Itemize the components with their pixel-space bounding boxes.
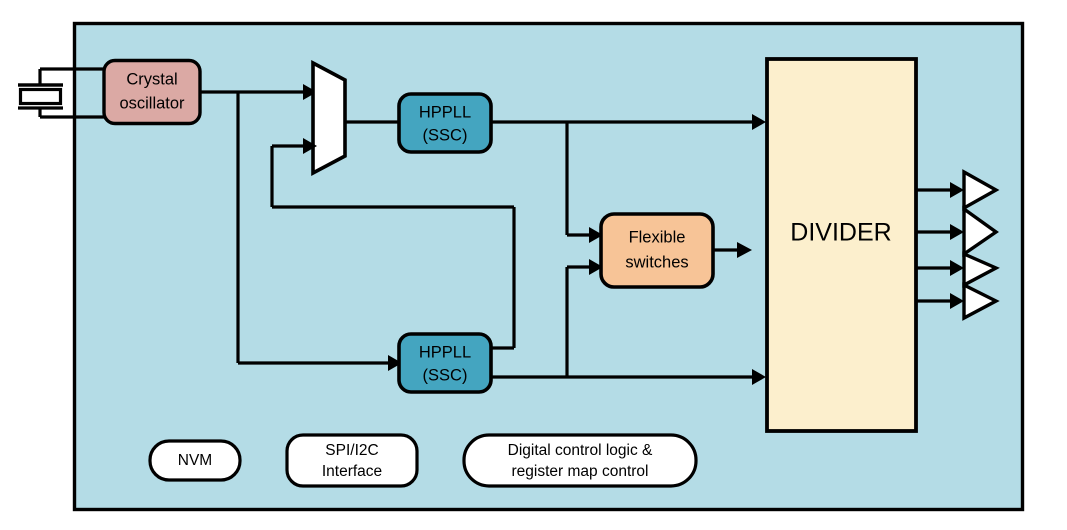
hppll-top-block[interactable] xyxy=(399,94,491,152)
spi-i2c-block[interactable] xyxy=(287,435,417,486)
mux-block[interactable] xyxy=(313,63,345,173)
flexible-switches-block[interactable] xyxy=(601,214,713,287)
digital-control-block[interactable] xyxy=(464,435,696,486)
diagram-canvas: Crystal oscillator HPPLL (SSC) xyxy=(0,0,1067,530)
crystal-oscillator-block[interactable] xyxy=(104,61,200,124)
nvm-block[interactable] xyxy=(150,441,240,480)
divider-block[interactable] xyxy=(767,59,916,431)
block-diagram: Crystal oscillator HPPLL (SSC) xyxy=(0,0,1067,530)
hppll-bottom-block[interactable] xyxy=(399,334,491,392)
